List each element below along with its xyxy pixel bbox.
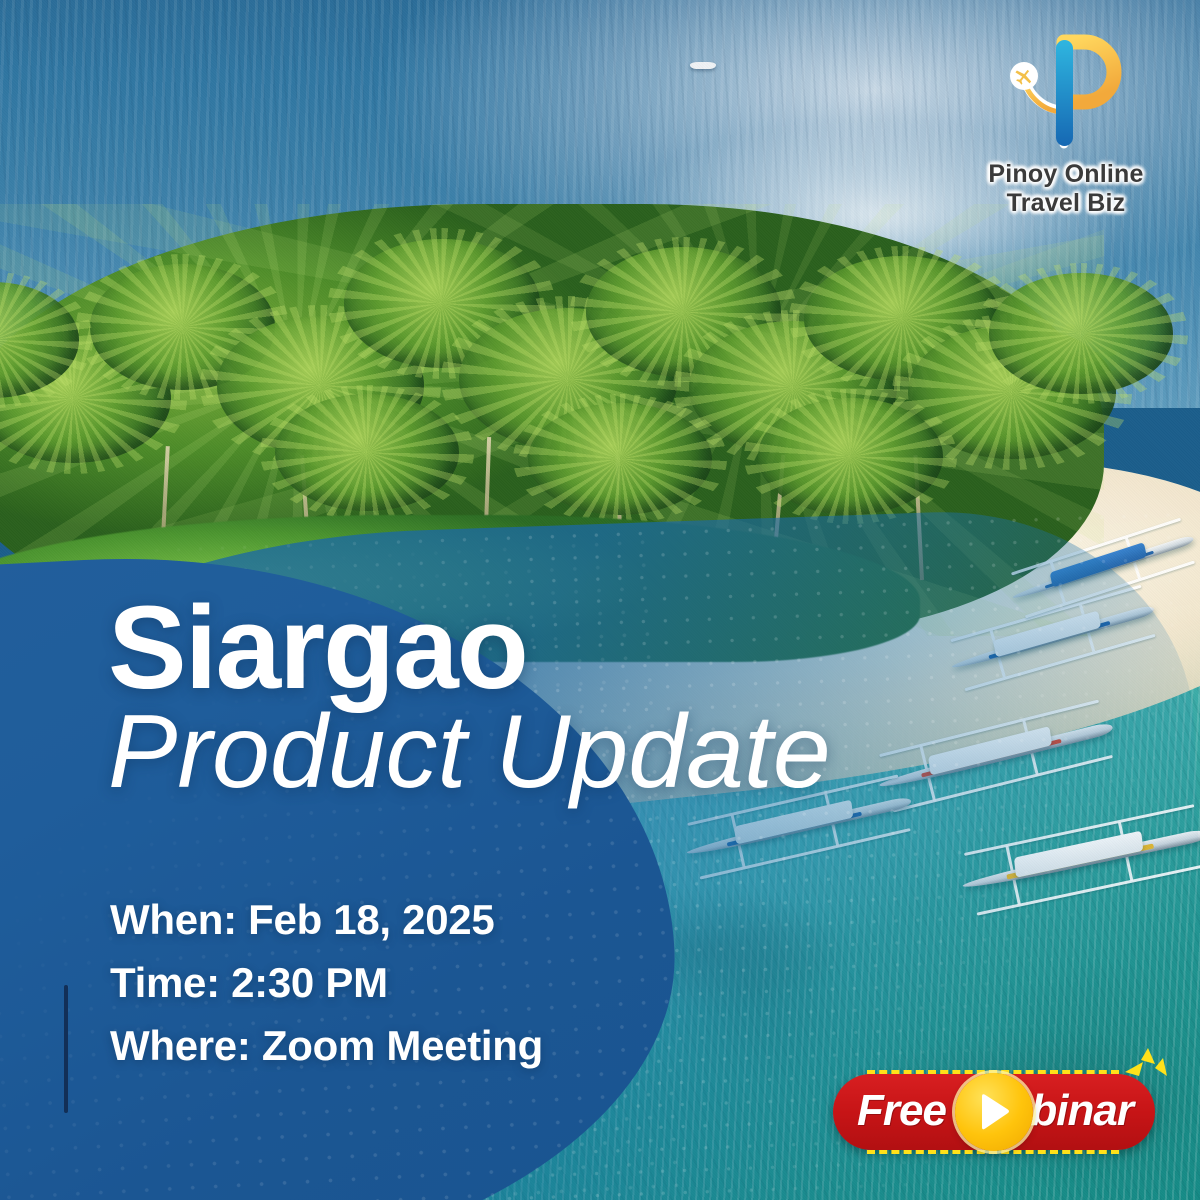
logo-wordmark-line1: Pinoy Online: [966, 160, 1166, 189]
event-detail-when: When: Feb 18, 2025: [110, 888, 543, 951]
logo-wordmark: Pinoy Online Travel Biz: [966, 160, 1166, 217]
sparkle-burst-icon: [1119, 1046, 1177, 1104]
play-triangle-icon: [974, 1091, 1014, 1133]
page-subtitle: Product Update: [108, 699, 831, 805]
webinar-poster: Pinoy Online Travel Biz Siargao Product …: [0, 0, 1200, 1200]
brand-logo[interactable]: Pinoy Online Travel Biz: [966, 26, 1166, 217]
badge-label-free: Free: [857, 1086, 946, 1136]
vertical-accent-rule: [64, 985, 68, 1113]
event-detail-where: Where: Zoom Meeting: [110, 1014, 543, 1077]
headline-block: Siargao Product Update: [108, 594, 831, 805]
event-details: When: Feb 18, 2025 Time: 2:30 PM Where: …: [110, 888, 543, 1077]
page-title: Siargao: [108, 594, 831, 703]
p-monogram-airplane-icon: [1000, 26, 1132, 158]
play-button[interactable]: [955, 1073, 1033, 1151]
event-detail-time: Time: 2:30 PM: [110, 951, 543, 1014]
logo-wordmark-line2: Travel Biz: [966, 189, 1166, 218]
free-webinar-badge[interactable]: Free Webinar: [833, 1074, 1155, 1150]
distant-boat: [690, 62, 716, 69]
